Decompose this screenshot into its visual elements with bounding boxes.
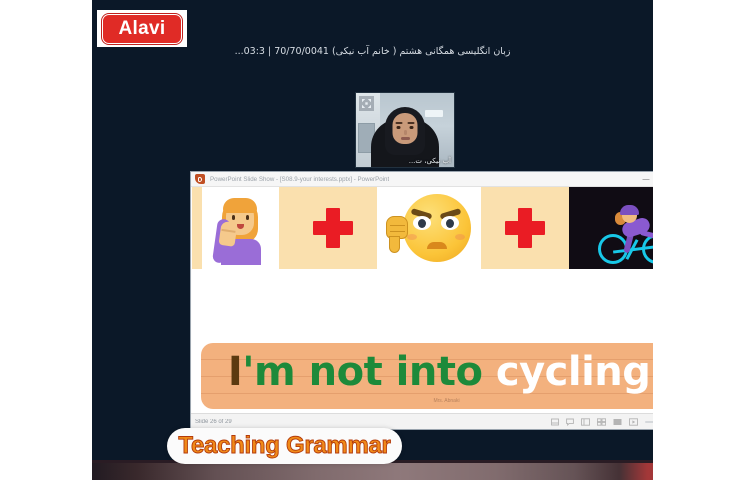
slide-sentence: I'm not into cycling. [201, 348, 653, 396]
video-window-light [425, 110, 443, 117]
powerpoint-window-title: PowerPoint Slide Show - [S08.9-your inte… [210, 176, 389, 183]
zoom-slider[interactable] [645, 421, 653, 423]
slideshow-icon[interactable] [629, 418, 638, 426]
participant-video-tile[interactable]: آب نیکی، ت... [355, 92, 455, 168]
comments-icon[interactable] [566, 418, 574, 426]
powerpoint-window[interactable]: PowerPoint Slide Show - [S08.9-your inte… [190, 171, 653, 430]
taskbar-strip [92, 463, 653, 480]
woman-biking-emoji [569, 187, 653, 269]
window-controls [635, 172, 653, 186]
person-raising-hand-emoji [192, 187, 289, 269]
slide-counter: Slide 26 of 29 [195, 419, 232, 425]
slide-whitespace [192, 269, 653, 343]
slide-sorter-icon[interactable] [597, 418, 606, 426]
participant-eye-right [410, 126, 414, 129]
angry-face-thumbs-down-emoji [377, 187, 481, 269]
minimize-icon[interactable] [635, 172, 653, 186]
sentence-part-i: I [228, 349, 242, 395]
status-bar-controls: 70% [551, 418, 653, 426]
participant-mouth [401, 137, 410, 140]
normal-view-icon[interactable] [581, 418, 590, 426]
alavi-logo-plate: Alavi [102, 14, 182, 44]
plus-sign-1-icon [289, 187, 377, 269]
session-title: زبان انگلیسی همگانی هشتم ( خانم آب نیکی)… [92, 46, 653, 57]
sentence-part-white: cycling. [496, 349, 653, 395]
powerpoint-slide-canvas[interactable]: I'm not into cycling. Mrs. Abnaki [192, 187, 653, 415]
alavi-logo-text: Alavi [119, 19, 166, 38]
slide-emoji-row [192, 187, 653, 269]
plus-sign-2-icon [481, 187, 569, 269]
powerpoint-title-bar[interactable]: PowerPoint Slide Show - [S08.9-your inte… [191, 172, 653, 187]
expand-arrows-icon[interactable] [359, 96, 374, 111]
slide-sentence-banner: I'm not into cycling. Mrs. Abnaki [201, 343, 653, 409]
alavi-logo-badge: Alavi [97, 10, 187, 47]
powerpoint-icon [195, 174, 205, 184]
participant-face [393, 113, 418, 144]
participant-eyebrow-left [396, 122, 403, 124]
slide-subtitle: Mrs. Abnaki [201, 398, 653, 404]
powerpoint-status-bar: Slide 26 of 29 [191, 413, 653, 429]
participant-eye-left [397, 126, 401, 129]
sentence-part-green: 'm not into [242, 349, 496, 395]
reading-view-icon[interactable] [613, 418, 622, 426]
teaching-grammar-banner: Teaching Grammar [167, 428, 402, 464]
notes-icon[interactable] [551, 418, 559, 426]
participant-nose [404, 130, 407, 135]
meeting-screen-share-region: زبان انگلیسی همگانی هشتم ( خانم آب نیکی)… [92, 0, 653, 480]
participant-eyebrow-right [408, 122, 415, 124]
participant-name-caption: آب نیکی، ت... [409, 157, 451, 165]
screenshot-root: زبان انگلیسی همگانی هشتم ( خانم آب نیکی)… [0, 0, 750, 480]
teaching-grammar-label: Teaching Grammar [178, 432, 390, 460]
